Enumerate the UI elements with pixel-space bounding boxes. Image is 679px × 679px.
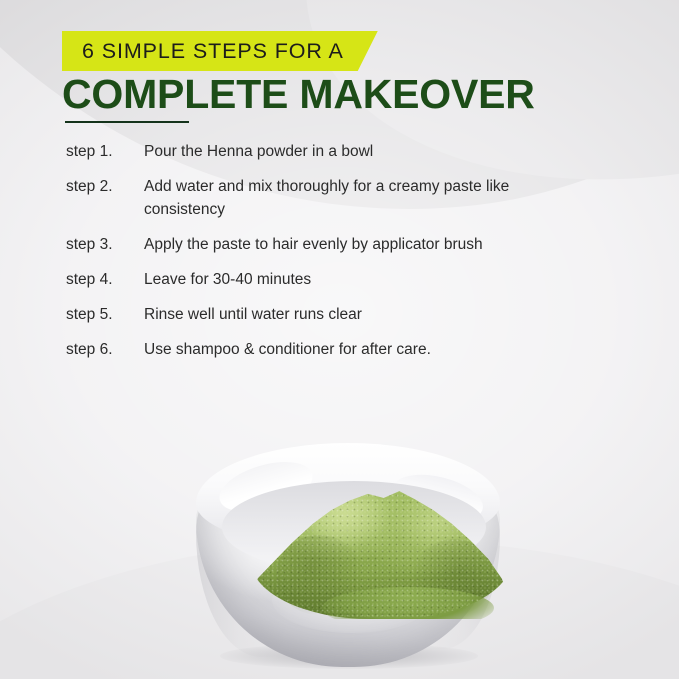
step-label: step 3. xyxy=(66,233,144,256)
step-text: Pour the Henna powder in a bowl xyxy=(144,140,536,163)
list-item: step 3. Apply the paste to hair evenly b… xyxy=(66,233,536,256)
list-item: step 6. Use shampoo & conditioner for af… xyxy=(66,338,536,361)
step-label: step 4. xyxy=(66,268,144,291)
bowl-rim xyxy=(196,443,500,547)
step-text: Rinse well until water runs clear xyxy=(144,303,536,326)
step-label: step 1. xyxy=(66,140,144,163)
title-divider-rule xyxy=(65,121,189,123)
step-text: Leave for 30-40 minutes xyxy=(144,268,536,291)
henna-bowl-image xyxy=(190,415,506,671)
page-title: COMPLETE MAKEOVER xyxy=(62,71,535,117)
step-text: Apply the paste to hair evenly by applic… xyxy=(144,233,536,256)
bowl-opening xyxy=(222,481,486,573)
step-label: step 2. xyxy=(66,175,144,198)
step-label: step 6. xyxy=(66,338,144,361)
list-item: step 1. Pour the Henna powder in a bowl xyxy=(66,140,536,163)
step-text: Add water and mix thoroughly for a cream… xyxy=(144,175,536,221)
step-text: Use shampoo & conditioner for after care… xyxy=(144,338,536,361)
eyebrow-text: 6 SIMPLE STEPS FOR A xyxy=(62,31,378,71)
steps-list: step 1. Pour the Henna powder in a bowl … xyxy=(66,140,536,373)
eyebrow-banner: 6 SIMPLE STEPS FOR A xyxy=(62,31,378,71)
list-item: step 2. Add water and mix thoroughly for… xyxy=(66,175,536,221)
poster-canvas: 6 SIMPLE STEPS FOR A COMPLETE MAKEOVER s… xyxy=(0,0,679,679)
list-item: step 5. Rinse well until water runs clea… xyxy=(66,303,536,326)
step-label: step 5. xyxy=(66,303,144,326)
list-item: step 4. Leave for 30-40 minutes xyxy=(66,268,536,291)
